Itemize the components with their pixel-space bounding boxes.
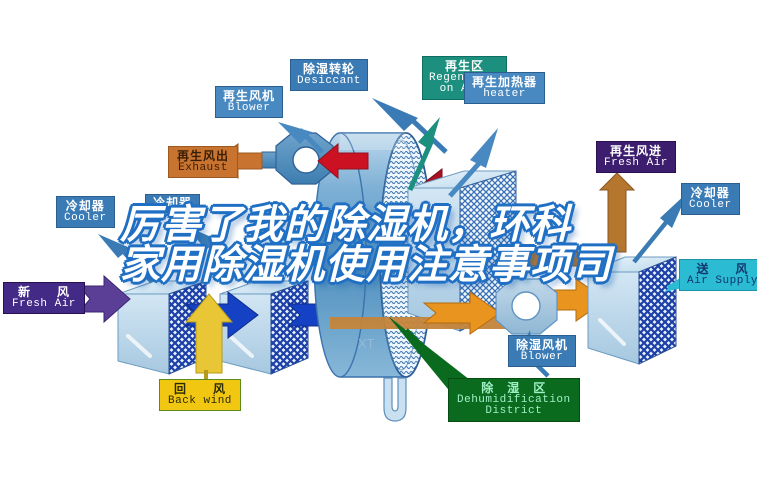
label-cooler-right: 冷却器 Cooler [681,183,740,215]
label-exhaust: 再生风出 Exhaust [168,146,238,178]
overlay-title: 厉害了我的除湿机，环科 家用除湿机使用注意事项司 [120,205,680,285]
label-desiccant-rotor: 除湿转轮 Desiccant [290,59,368,91]
label-dehum-blower: 除湿风机 Blower [508,335,576,367]
rotor-stand [384,378,406,421]
label-regeneration-heater: 再生加热器 heater [464,72,545,104]
cooler-coil-1 [118,281,206,374]
label-regen-fresh-air: 再生风进 Fresh Air [596,141,676,173]
label-cooler-left: 冷却器 Cooler [56,196,115,228]
label-back-wind: 回 风 Back wind [159,379,241,411]
label-dehumidification-district: 除 湿 区 Dehumidification District [448,378,580,422]
overlay-title-line2: 家用除湿机使用注意事项司 [120,245,680,285]
label-air-supply: 送 风 Air Supply [679,259,757,291]
schematic-canvas: XT [0,0,757,488]
watermark-text: XT [358,336,375,351]
label-fresh-air: 新 风 Fresh Air [3,282,85,314]
label-regen-blower: 再生风机 Blower [215,86,283,118]
